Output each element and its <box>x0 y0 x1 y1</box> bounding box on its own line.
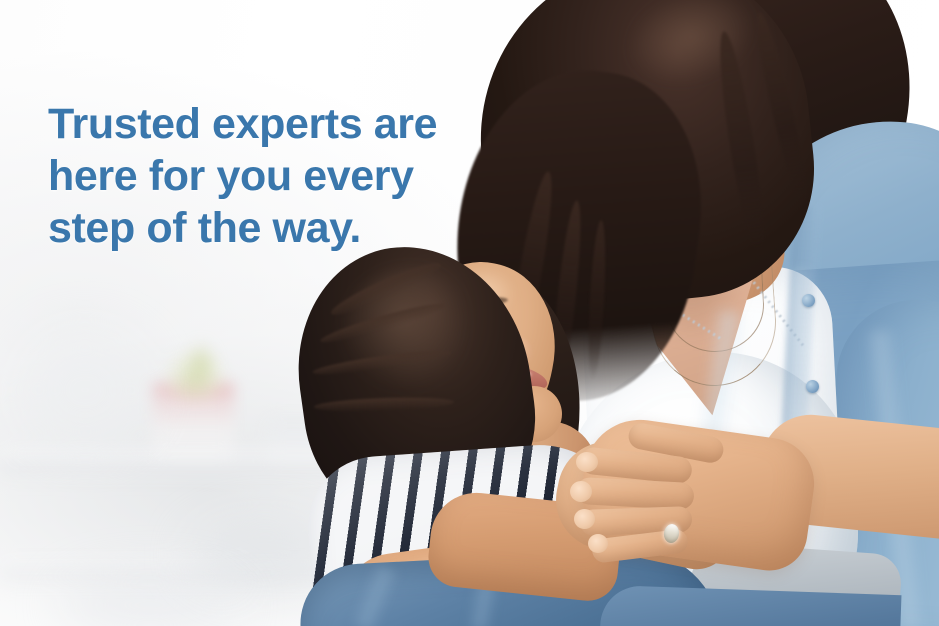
fingernail <box>574 509 595 529</box>
hero-photograph <box>0 0 939 626</box>
headline-line-3: step of the way. <box>48 202 468 254</box>
potted-plant-foliage <box>186 340 216 380</box>
hero-banner: Trusted experts are here for you every s… <box>0 0 939 626</box>
headline-line-2: here for you every <box>48 150 468 202</box>
background-blur-smudge <box>20 330 150 450</box>
headline: Trusted experts are here for you every s… <box>48 98 468 254</box>
fingernail <box>570 481 592 502</box>
headline-line-1: Trusted experts are <box>48 98 468 150</box>
background-blur-smudge <box>60 575 240 626</box>
fingernail <box>576 452 598 472</box>
fingernail <box>588 534 608 553</box>
